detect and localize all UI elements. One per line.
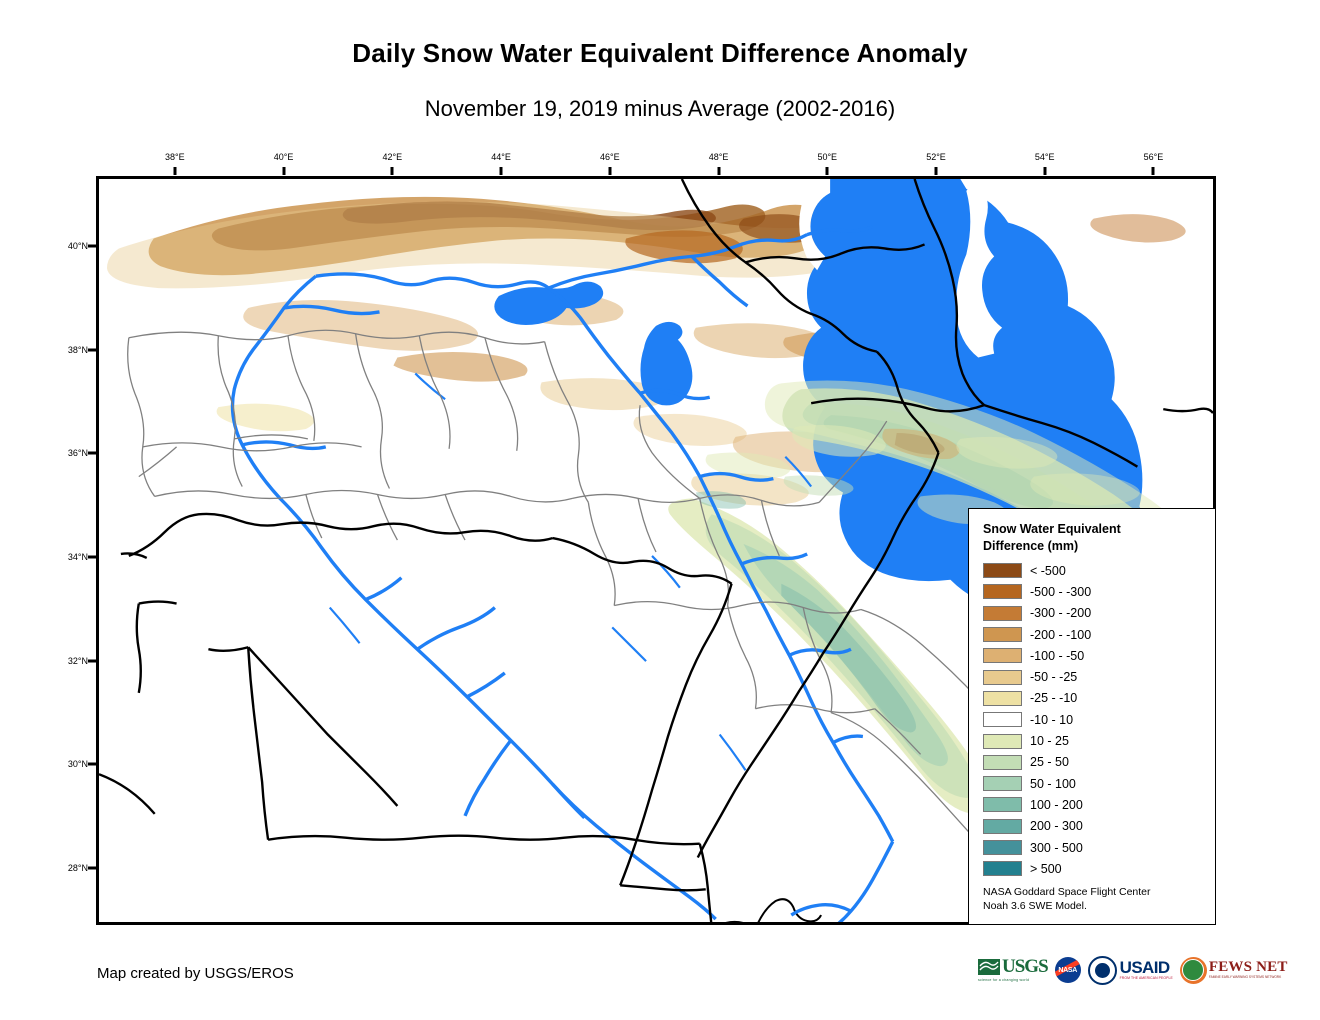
legend-row: < -500 [983,560,1205,581]
latitude-label: 34°N [44,552,88,562]
legend-swatch [983,819,1022,834]
longitude-label: 38°E [165,152,185,162]
legend-row: 10 - 25 [983,730,1205,751]
page-subtitle: November 19, 2019 minus Average (2002-20… [0,96,1320,122]
legend-label: -25 - -10 [1030,691,1077,705]
longitude-tick [282,167,285,175]
legend-row: > 500 [983,858,1205,879]
legend-label: 100 - 200 [1030,798,1083,812]
longitude-tick [500,167,503,175]
legend-label: 50 - 100 [1030,777,1076,791]
usaid-logo[interactable]: USAID FROM THE AMERICAN PEOPLE [1088,955,1173,985]
legend-label: 25 - 50 [1030,755,1069,769]
longitude-tick [391,167,394,175]
legend-swatch [983,648,1022,663]
legend-swatch [983,563,1022,578]
legend-swatch [983,606,1022,621]
latitude-tick [88,555,96,558]
usaid-seal-icon [1088,956,1117,985]
legend-row: 100 - 200 [983,794,1205,815]
latitude-tick [88,866,96,869]
legend-row: -10 - 10 [983,709,1205,730]
legend-title-line2: Difference (mm) [983,538,1205,555]
latitude-label: 36°N [44,448,88,458]
usgs-logo[interactable]: USGS science for a changing world [978,955,1048,985]
legend-swatch [983,584,1022,599]
legend-swatch [983,734,1022,749]
usaid-tagline: FROM THE AMERICAN PEOPLE [1120,977,1173,980]
longitude-label: 54°E [1035,152,1055,162]
longitude-tick [1152,167,1155,175]
legend-label: 10 - 25 [1030,734,1069,748]
legend-row: -25 - -10 [983,688,1205,709]
legend-label: -300 - -200 [1030,606,1091,620]
nasa-wordmark: NASA [1058,967,1077,974]
longitude-tick [935,167,938,175]
legend-swatch [983,797,1022,812]
latitude-tick [88,659,96,662]
longitude-label: 46°E [600,152,620,162]
legend-row: 50 - 100 [983,773,1205,794]
latitude-label: 28°N [44,863,88,873]
longitude-tick [826,167,829,175]
longitude-label: 42°E [382,152,402,162]
latitude-label: 40°N [44,241,88,251]
usgs-wave-icon [978,959,1000,975]
usgs-tagline: science for a changing world [978,978,1048,982]
legend-title-line1: Snow Water Equivalent [983,521,1205,538]
longitude-tick [173,167,176,175]
legend-row: 25 - 50 [983,752,1205,773]
latitude-tick [88,452,96,455]
latitude-label: 32°N [44,656,88,666]
longitude-tick [717,167,720,175]
latitude-tick [88,348,96,351]
legend-row: -50 - -25 [983,666,1205,687]
legend-row: -500 - -300 [983,581,1205,602]
latitude-label: 38°N [44,345,88,355]
legend-swatch [983,776,1022,791]
legend-title: Snow Water Equivalent Difference (mm) [983,521,1205,554]
legend-class-list: < -500-500 - -300-300 - -200-200 - -100-… [983,560,1205,879]
legend-label: < -500 [1030,564,1066,578]
latitude-tick [88,244,96,247]
legend-row: -200 - -100 [983,624,1205,645]
longitude-label: 52°E [926,152,946,162]
longitude-label: 50°E [817,152,837,162]
legend-row: -300 - -200 [983,603,1205,624]
legend-label: 200 - 300 [1030,819,1083,833]
legend-swatch [983,627,1022,642]
legend-label: > 500 [1030,862,1062,876]
usaid-wordmark: USAID [1120,959,1173,976]
longitude-tick [608,167,611,175]
fewsnet-globe-icon [1180,957,1207,984]
legend-row: 200 - 300 [983,816,1205,837]
latitude-label: 30°N [44,759,88,769]
legend-swatch [983,861,1022,876]
legend-label: -100 - -50 [1030,649,1084,663]
map-credit: Map created by USGS/EROS [97,965,294,982]
fewsnet-logo[interactable]: FEWS NET FAMINE EARLY WARNING SYSTEMS NE… [1180,955,1288,985]
legend-swatch [983,670,1022,685]
fewsnet-wordmark: FEWS NET [1209,960,1288,975]
legend-row: 300 - 500 [983,837,1205,858]
page-title: Daily Snow Water Equivalent Difference A… [0,38,1320,69]
legend-label: -500 - -300 [1030,585,1091,599]
longitude-label: 56°E [1144,152,1164,162]
legend-row: -100 - -50 [983,645,1205,666]
logo-strip: USGS science for a changing world NASA U… [978,955,1288,985]
longitude-label: 48°E [709,152,729,162]
legend-swatch [983,712,1022,727]
legend-label: 300 - 500 [1030,841,1083,855]
longitude-label: 44°E [491,152,511,162]
usgs-wordmark: USGS [1002,958,1048,976]
latitude-tick [88,763,96,766]
fewsnet-tagline: FAMINE EARLY WARNING SYSTEMS NETWORK [1209,976,1288,979]
map-legend: Snow Water Equivalent Difference (mm) < … [968,508,1216,925]
legend-swatch [983,840,1022,855]
longitude-label: 40°E [274,152,294,162]
nasa-logo[interactable]: NASA [1055,955,1081,985]
legend-label: -50 - -25 [1030,670,1077,684]
legend-swatch [983,691,1022,706]
longitude-tick [1043,167,1046,175]
legend-label: -200 - -100 [1030,628,1091,642]
legend-swatch [983,755,1022,770]
legend-source-note: NASA Goddard Space Flight Center Noah 3.… [983,886,1205,912]
legend-label: -10 - 10 [1030,713,1073,727]
